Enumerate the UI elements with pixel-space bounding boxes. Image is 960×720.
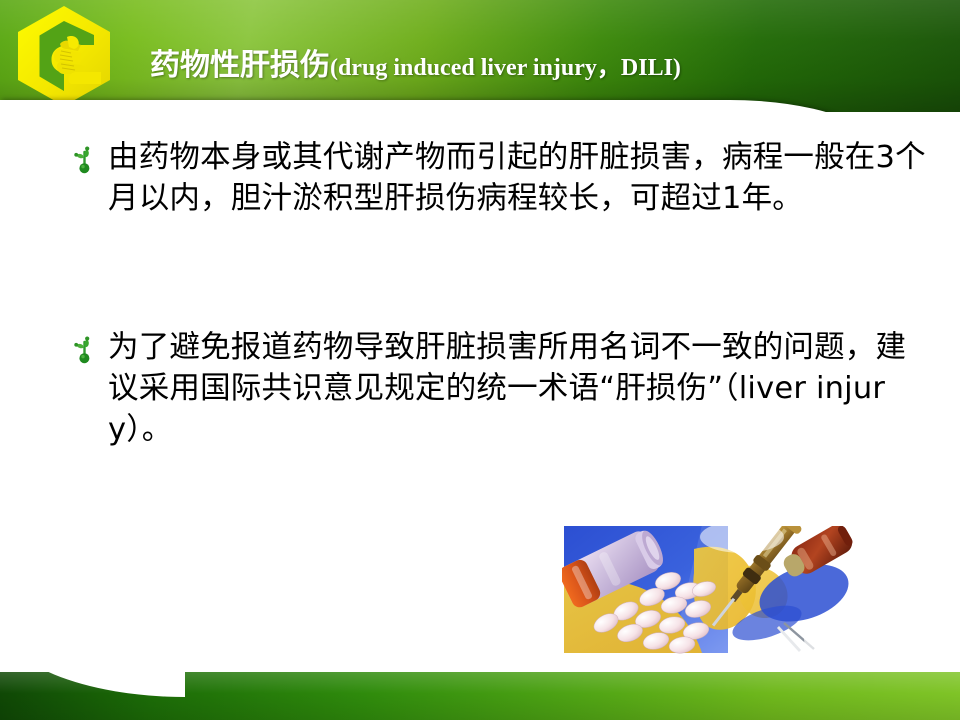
medicine-photo <box>552 519 882 661</box>
slide-footer <box>0 672 960 720</box>
green-sprout-bullet-icon <box>72 143 98 179</box>
green-sprout-bullet-icon <box>72 333 98 369</box>
page-title: 药物性肝损伤(drug induced liver injury，DILI) <box>150 40 940 84</box>
page-title-english: (drug induced liver injury，DILI) <box>330 55 681 81</box>
list-item: 为了避免报道药物导致肝脏损害所用名词不一致的问题，建议采用国际共识意见规定的统一… <box>72 327 928 450</box>
slide-canvas: 药物性肝损伤(drug induced liver injury，DILI) <box>0 0 960 720</box>
hexagon-hand-logo <box>15 4 113 108</box>
slide-header: 药物性肝损伤(drug induced liver injury，DILI) <box>0 0 960 112</box>
page-title-chinese: 药物性肝损伤 <box>150 48 330 83</box>
list-item-text: 为了避免报道药物导致肝脏损害所用名词不一致的问题，建议采用国际共识意见规定的统一… <box>108 327 928 450</box>
header-rounded-cutout <box>0 100 880 112</box>
list-item: 由药物本身或其代谢产物而引起的肝脏损害，病程一般在3个月以内，胆汁淤积型肝损伤病… <box>72 137 928 219</box>
list-item-text: 由药物本身或其代谢产物而引起的肝脏损害，病程一般在3个月以内，胆汁淤积型肝损伤病… <box>108 137 928 219</box>
